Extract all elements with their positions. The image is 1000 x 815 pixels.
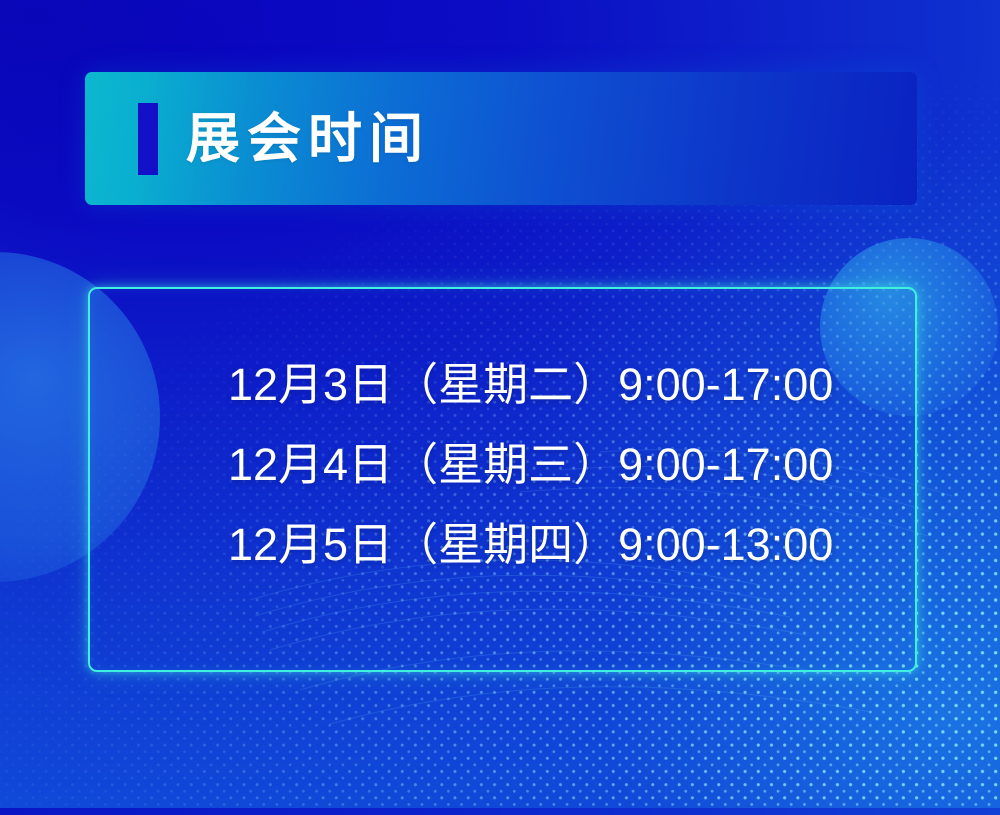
bottom-edge-strip (0, 808, 1000, 815)
vertical-accent-bar (138, 103, 158, 175)
header-banner: 展会时间 (85, 72, 917, 205)
schedule-line-2: 12月4日（星期三）9:00-17:00 (228, 425, 885, 505)
page-title: 展会时间 (186, 112, 430, 166)
schedule-frame: 12月3日（星期二）9:00-17:00 12月4日（星期三）9:00-17:0… (88, 287, 917, 672)
schedule-line-1: 12月3日（星期二）9:00-17:00 (228, 345, 885, 425)
poster-canvas: 展会时间 12月3日（星期二）9:00-17:00 12月4日（星期三）9:00… (0, 0, 1000, 815)
schedule-list: 12月3日（星期二）9:00-17:00 12月4日（星期三）9:00-17:0… (228, 345, 885, 585)
schedule-line-3: 12月5日（星期四）9:00-13:00 (228, 505, 885, 585)
